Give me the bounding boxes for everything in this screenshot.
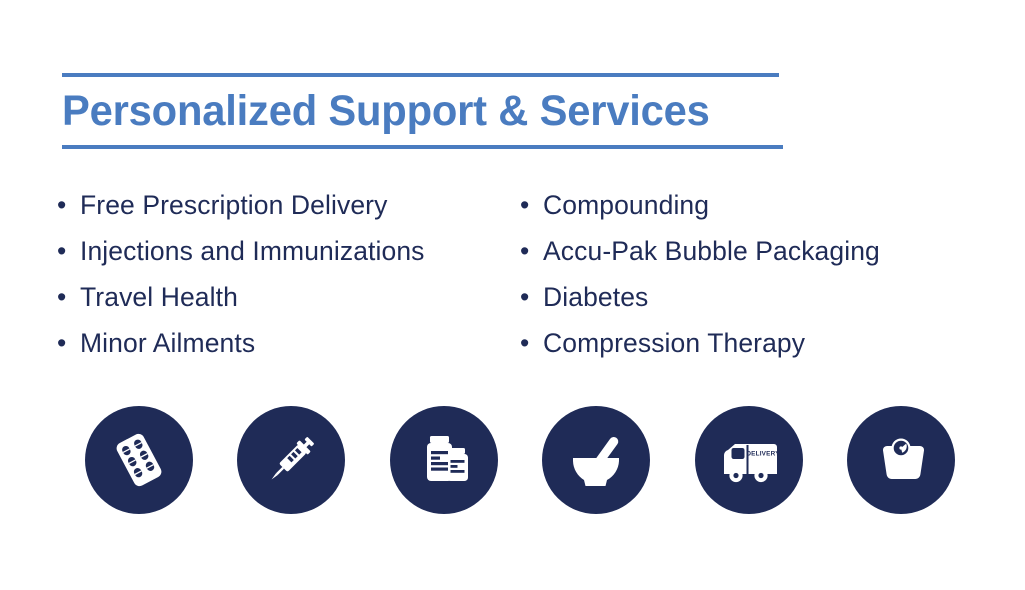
bullet-icon: • <box>57 182 66 228</box>
icon-circle-blister-pack <box>85 406 193 514</box>
list-item: • Compounding <box>517 182 1025 228</box>
services-column-right: • Compounding • Accu-Pak Bubble Packagin… <box>500 182 1025 366</box>
icon-circle-delivery-van: DELIVERY <box>695 406 803 514</box>
list-item-label: Travel Health <box>80 282 238 312</box>
bullet-icon: • <box>520 320 529 366</box>
heading-block: Personalized Support & Services <box>62 73 783 149</box>
list-item-label: Accu-Pak Bubble Packaging <box>543 236 880 266</box>
service-list-right: • Compounding • Accu-Pak Bubble Packagin… <box>517 182 1025 366</box>
list-item: • Free Prescription Delivery <box>54 182 500 228</box>
blister-pack-icon <box>107 428 171 492</box>
bullet-icon: • <box>57 228 66 274</box>
icon-circle-weight-scale <box>847 406 955 514</box>
bullet-icon: • <box>57 274 66 320</box>
syringe-icon <box>259 428 323 492</box>
weight-scale-icon <box>869 428 933 492</box>
list-item: • Accu-Pak Bubble Packaging <box>517 228 1025 274</box>
bullet-icon: • <box>57 320 66 366</box>
mortar-and-pestle-icon <box>564 428 628 492</box>
icon-circle-mortar-pestle <box>542 406 650 514</box>
list-item-label: Compounding <box>543 190 709 220</box>
services-lists: • Free Prescription Delivery • Injection… <box>0 182 1025 366</box>
service-list-left: • Free Prescription Delivery • Injection… <box>54 182 500 366</box>
list-item: • Injections and Immunizations <box>54 228 500 274</box>
title-rule-bottom <box>62 145 783 149</box>
delivery-van-icon: DELIVERY <box>716 427 782 493</box>
medicine-bottles-icon <box>412 428 476 492</box>
slide-canvas: Personalized Support & Services • Free P… <box>0 0 1025 590</box>
list-item-label: Free Prescription Delivery <box>80 190 387 220</box>
list-item-label: Minor Ailments <box>80 328 255 358</box>
list-item-label: Compression Therapy <box>543 328 805 358</box>
bullet-icon: • <box>520 274 529 320</box>
page-title: Personalized Support & Services <box>62 77 761 145</box>
bullet-icon: • <box>520 228 529 274</box>
list-item: • Minor Ailments <box>54 320 500 366</box>
services-column-left: • Free Prescription Delivery • Injection… <box>0 182 500 366</box>
icon-circle-medicine-bottles <box>390 406 498 514</box>
list-item: • Travel Health <box>54 274 500 320</box>
icon-circle-syringe <box>237 406 345 514</box>
service-icon-row: DELIVERY <box>85 406 955 516</box>
list-item: • Diabetes <box>517 274 1025 320</box>
list-item-label: Injections and Immunizations <box>80 236 425 266</box>
list-item-label: Diabetes <box>543 282 648 312</box>
delivery-van-label: DELIVERY <box>746 451 780 458</box>
bullet-icon: • <box>520 182 529 228</box>
list-item: • Compression Therapy <box>517 320 1025 366</box>
